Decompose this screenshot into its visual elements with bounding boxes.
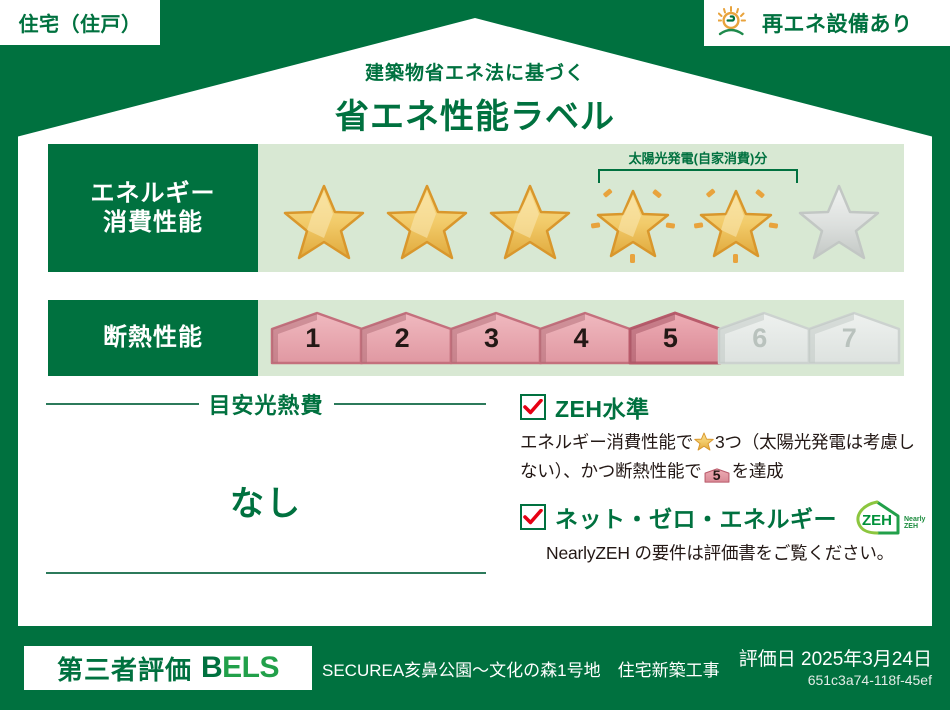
zeh-standard-description: エネルギー消費性能で3つ（太陽光発電は考慮しない）、かつ断熱性能で5を達成 — [520, 429, 920, 485]
zeh-desc-part1: エネルギー消費性能で — [520, 432, 693, 452]
bels-logo-b: B — [201, 651, 222, 684]
bels-logo-els: ELS — [222, 651, 279, 684]
grade-number: 1 — [305, 325, 320, 352]
utility-cost-bottom-rule — [46, 572, 486, 574]
heading-rule-left — [46, 403, 199, 405]
bels-logo: BELS — [201, 651, 279, 685]
net-zero-energy-checkbox[interactable] — [520, 504, 546, 530]
renewable-equipment-label: 再エネ設備あり — [762, 8, 913, 38]
solar-annotation-text: 太陽光発電(自家消費)分 — [598, 148, 798, 167]
energy-label-line2: 消費性能 — [103, 208, 203, 237]
zeh-logo-sub-line2: ZEH — [904, 523, 925, 530]
zeh-standard-checkbox[interactable] — [520, 394, 546, 420]
grade-number: 7 — [842, 325, 857, 352]
star-6-empty — [793, 178, 885, 266]
star-1 — [278, 178, 370, 266]
zeh-standard-item: ZEH水準 エネルギー消費性能で3つ（太陽光発電は考慮しない）、かつ断熱性能で5… — [520, 390, 920, 485]
mini-grade-badge: 5 — [704, 466, 730, 485]
net-zero-energy-header: ネット・ゼロ・エネルギー ZEH Nearly ZEH — [520, 499, 920, 535]
grade-number: 2 — [395, 325, 410, 352]
third-party-eval-label: 第三者評価 — [57, 650, 192, 687]
bels-energy-label: 住宅（住戸） 再エネ設備あり 建築物省エネ法に基づく — [0, 0, 950, 710]
energy-performance-row: エネルギー 消費性能 太陽光発電(自家消費)分 — [48, 144, 904, 272]
grade-number: 4 — [573, 325, 588, 352]
net-zero-energy-description: NearlyZEH の要件は評価書をご覧ください。 — [520, 540, 920, 566]
insulation-grade-2: 2 — [357, 311, 446, 365]
star-4-solar — [587, 178, 679, 266]
evaluation-id: 651c3a74-118f-45ef — [808, 672, 932, 688]
project-name: SECUREA亥鼻公園～文化の森1号地 住宅新築工事 — [322, 656, 720, 681]
page-title: 建築物省エネ法に基づく 省エネ性能ラベル — [0, 58, 950, 138]
energy-label-line1: エネルギー — [91, 179, 216, 208]
utility-cost-heading-text: 目安光熱費 — [209, 388, 324, 420]
insulation-grade-7: 7 — [805, 311, 894, 365]
evaluation-date: 評価日 2025年3月24日 — [739, 644, 932, 671]
insulation-grade-4: 4 — [536, 311, 625, 365]
insulation-grade-1: 1 — [268, 311, 357, 365]
net-zero-energy-title: ネット・ゼロ・エネルギー — [555, 500, 837, 534]
insulation-performance-row: 断熱性能 1 — [48, 300, 904, 376]
mini-star-icon — [694, 435, 714, 455]
insulation-label-text: 断熱性能 — [103, 323, 203, 352]
title-subtitle: 建築物省エネ法に基づく — [0, 58, 950, 85]
grade-number: 6 — [752, 325, 767, 352]
house-type-label: 住宅（住戸） — [19, 8, 142, 37]
mini-grade-number: 5 — [713, 465, 721, 486]
insulation-performance-label: 断熱性能 — [48, 300, 258, 376]
svg-text:ZEH: ZEH — [862, 512, 892, 529]
house-type-tag: 住宅（住戸） — [0, 0, 160, 45]
utility-cost-heading: 目安光熱費 — [46, 388, 486, 420]
title-main: 省エネ性能ラベル — [0, 89, 950, 138]
energy-star-scale: 太陽光発電(自家消費)分 — [258, 144, 904, 272]
footer-bar: 第三者評価 BELS SECUREA亥鼻公園～文化の森1号地 住宅新築工事 評価… — [0, 634, 950, 710]
zeh-desc-part3: を達成 — [732, 461, 784, 481]
insulation-grade-scale: 1 2 3 — [258, 300, 904, 376]
star-3 — [484, 178, 576, 266]
grade-number: 5 — [663, 325, 678, 352]
zeh-house-logo: ZEH Nearly ZEH — [852, 499, 925, 535]
zeh-standard-title: ZEH水準 — [555, 390, 650, 424]
zeh-standard-header: ZEH水準 — [520, 390, 920, 424]
star-2 — [381, 178, 473, 266]
solar-sun-icon — [718, 4, 756, 43]
insulation-grade-group: 1 2 3 — [258, 300, 904, 376]
grade-number: 3 — [484, 325, 499, 352]
zeh-logo-sub-line1: Nearly — [904, 516, 925, 523]
insulation-grade-6: 6 — [715, 311, 804, 365]
insulation-grade-3: 3 — [447, 311, 536, 365]
bels-certification-box: 第三者評価 BELS — [24, 646, 312, 690]
star-rating-group — [258, 178, 904, 266]
zeh-section: ZEH水準 エネルギー消費性能で3つ（太陽光発電は考慮しない）、かつ断熱性能で5… — [520, 390, 920, 573]
star-5-solar — [690, 178, 782, 266]
net-zero-energy-item: ネット・ゼロ・エネルギー ZEH Nearly ZEH NearlyZEH の要… — [520, 499, 920, 566]
insulation-grade-5: 5 — [626, 311, 715, 365]
utility-cost-section: 目安光熱費 なし — [46, 388, 486, 525]
renewable-equipment-badge: 再エネ設備あり — [704, 0, 950, 46]
heading-rule-right — [334, 403, 487, 405]
utility-cost-value: なし — [46, 476, 486, 525]
energy-performance-label: エネルギー 消費性能 — [48, 144, 258, 272]
